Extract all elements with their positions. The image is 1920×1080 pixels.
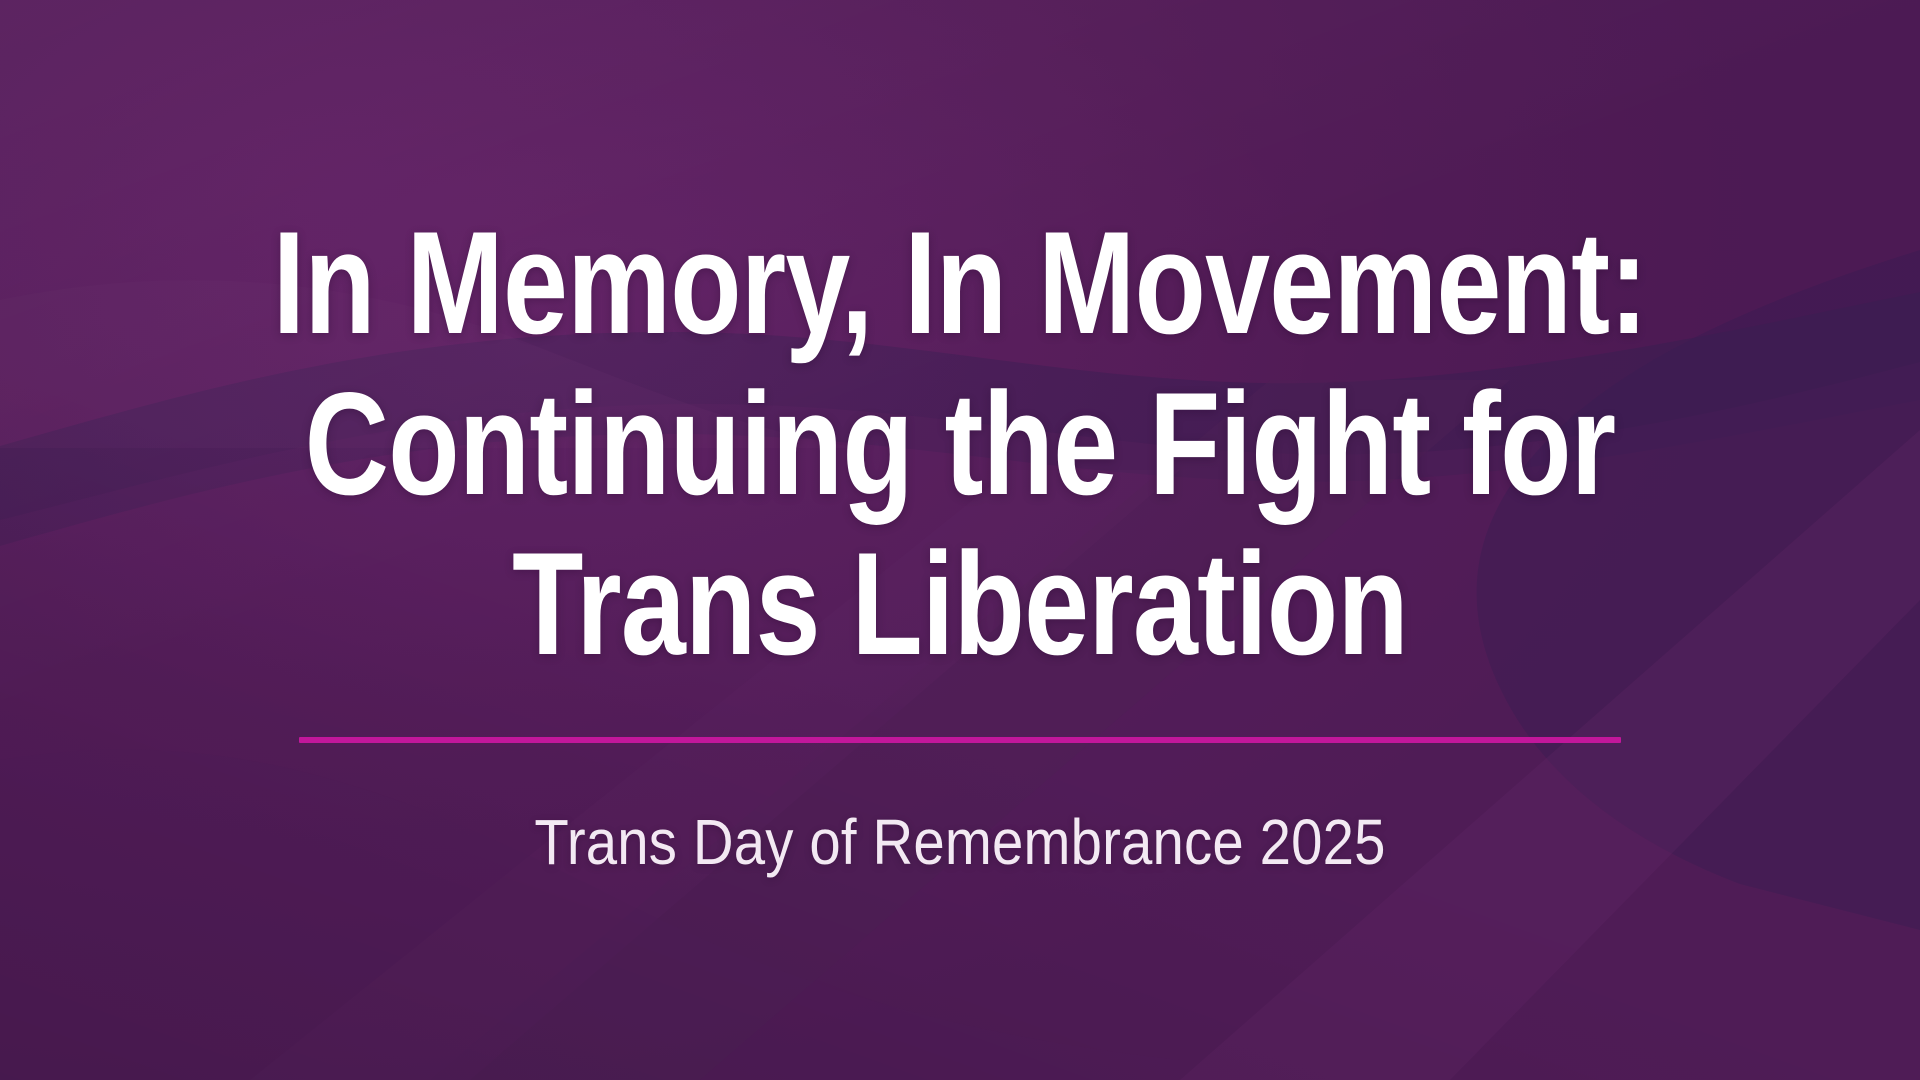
title-slide: In Memory, In Movement: Continuing the F…: [0, 0, 1920, 1080]
title-line-2: Continuing the Fight for: [248, 364, 1672, 525]
slide-content: In Memory, In Movement: Continuing the F…: [0, 0, 1920, 1080]
title-line-1: In Memory, In Movement:: [248, 203, 1672, 364]
title-line-3: Trans Liberation: [248, 524, 1672, 685]
title-block: In Memory, In Movement: Continuing the F…: [70, 203, 1850, 877]
page-title: In Memory, In Movement: Continuing the F…: [248, 203, 1672, 685]
subtitle: Trans Day of Remembrance 2025: [177, 807, 1743, 877]
title-divider: [299, 737, 1621, 743]
